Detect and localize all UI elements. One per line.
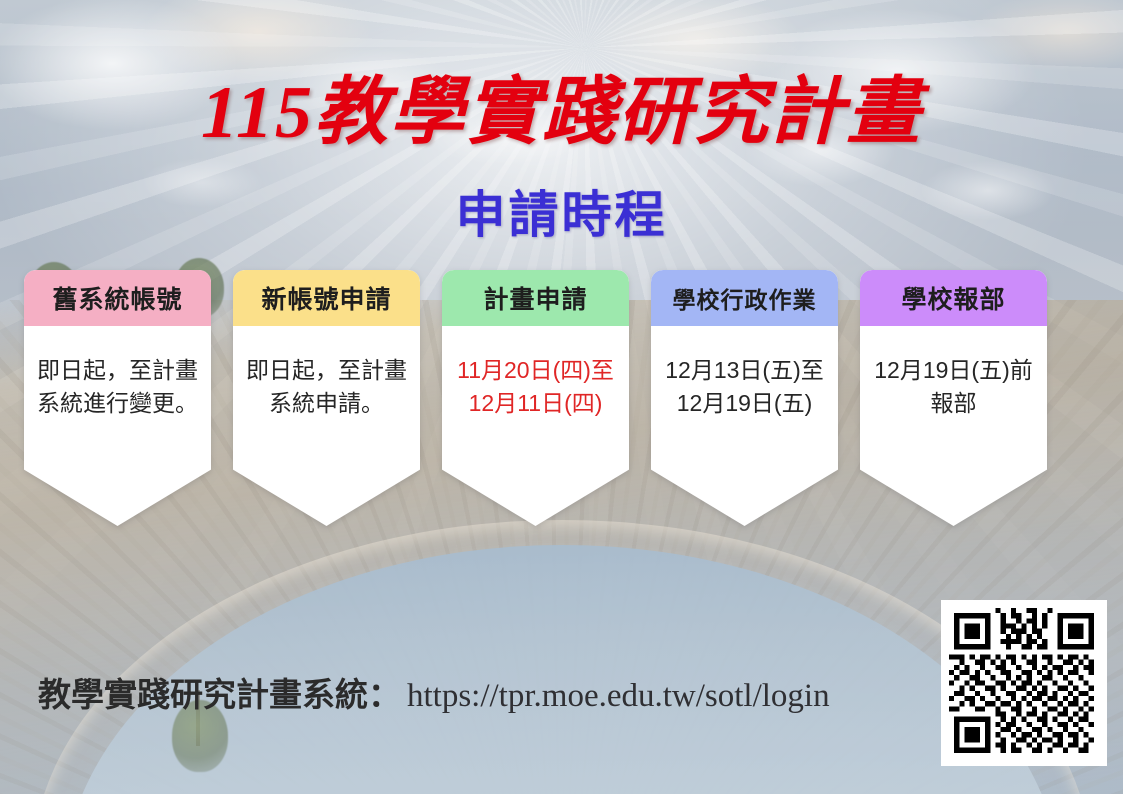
poster-canvas: 115教學實踐研究計畫 申請時程 舊系統帳號 即日起，至計畫 系統進行變更。 新… [0, 0, 1123, 794]
card-body-2-line-2: 系統申請。 [243, 387, 410, 420]
card-shape-4: 學校行政作業 12月13日(五)至 12月19日(五) [651, 270, 838, 526]
card-body-1-line-1: 即日起，至計畫 [34, 354, 201, 387]
card-body-5-line-1: 12月19日(五)前 [870, 354, 1037, 387]
card-body-3: 11月20日(四)至 12月11日(四) [442, 326, 629, 526]
timeline-card-5[interactable]: 學校報部 12月19日(五)前 報部 [860, 270, 1047, 526]
qr-code[interactable] [941, 600, 1107, 766]
card-header-2: 新帳號申請 [233, 270, 420, 326]
card-body-5: 12月19日(五)前 報部 [860, 326, 1047, 526]
timeline-card-2[interactable]: 新帳號申請 即日起，至計畫 系統申請。 [233, 270, 420, 526]
poster-title: 115教學實踐研究計畫 [0, 52, 1123, 159]
card-header-5: 學校報部 [860, 270, 1047, 326]
timeline-card-4[interactable]: 學校行政作業 12月13日(五)至 12月19日(五) [651, 270, 838, 526]
card-body-1-line-2: 系統進行變更。 [34, 387, 201, 420]
footer-system-link: 教學實踐研究計畫系統： https://tpr.moe.edu.tw/sotl/… [38, 668, 830, 716]
card-body-3-line-1: 11月20日(四)至 [452, 354, 619, 387]
card-header-1: 舊系統帳號 [24, 270, 211, 326]
card-body-1: 即日起，至計畫 系統進行變更。 [24, 326, 211, 526]
timeline-cards: 舊系統帳號 即日起，至計畫 系統進行變更。 新帳號申請 即日起，至計畫 系統申請… [24, 270, 1099, 526]
card-body-2-line-1: 即日起，至計畫 [243, 354, 410, 387]
footer-url[interactable]: https://tpr.moe.edu.tw/sotl/login [407, 678, 830, 715]
card-shape-5: 學校報部 12月19日(五)前 報部 [860, 270, 1047, 526]
card-body-4: 12月13日(五)至 12月19日(五) [651, 326, 838, 526]
timeline-card-1[interactable]: 舊系統帳號 即日起，至計畫 系統進行變更。 [24, 270, 211, 526]
poster-subtitle: 申請時程 [0, 175, 1123, 247]
card-shape-1: 舊系統帳號 即日起，至計畫 系統進行變更。 [24, 270, 211, 526]
card-header-4: 學校行政作業 [651, 270, 838, 326]
card-body-4-line-1: 12月13日(五)至 [661, 354, 828, 387]
card-body-5-line-2: 報部 [870, 387, 1037, 420]
card-body-3-line-2: 12月11日(四) [452, 387, 619, 420]
timeline-card-3[interactable]: 計畫申請 11月20日(四)至 12月11日(四) [442, 270, 629, 526]
card-shape-3: 計畫申請 11月20日(四)至 12月11日(四) [442, 270, 629, 526]
footer-label: 教學實踐研究計畫系統： [38, 668, 401, 716]
qr-code-image [949, 608, 1099, 758]
card-body-2: 即日起，至計畫 系統申請。 [233, 326, 420, 526]
card-body-4-line-2: 12月19日(五) [661, 387, 828, 420]
card-shape-2: 新帳號申請 即日起，至計畫 系統申請。 [233, 270, 420, 526]
card-header-3: 計畫申請 [442, 270, 629, 326]
